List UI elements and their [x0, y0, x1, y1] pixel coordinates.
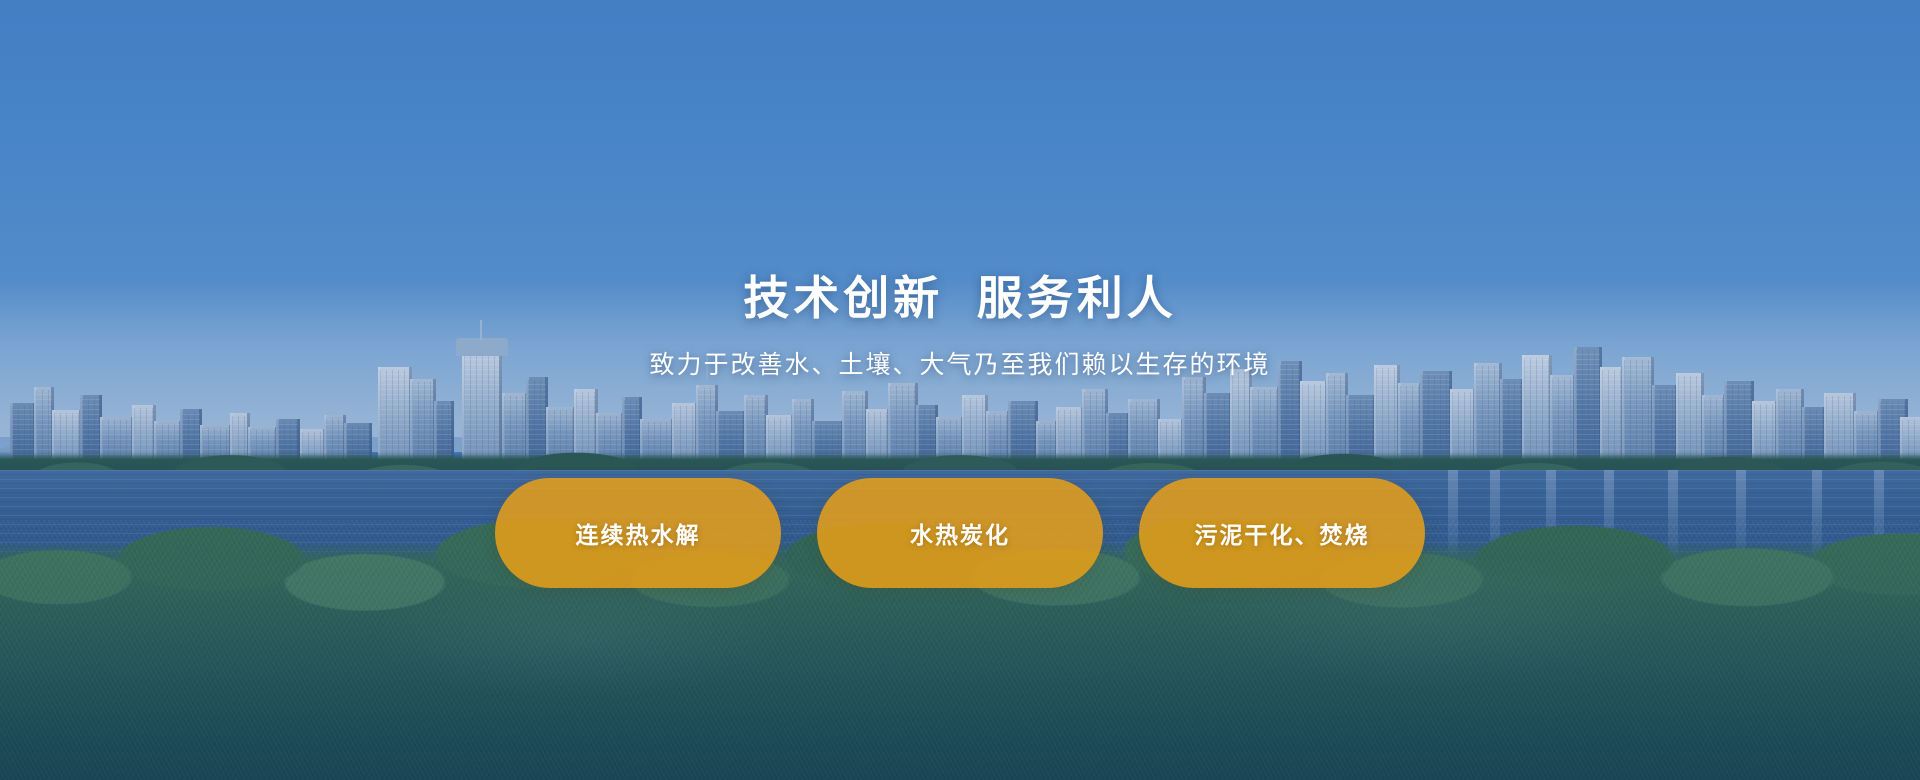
service-pill-sludge-drying-incineration[interactable]: 污泥干化、焚烧	[1139, 478, 1425, 588]
service-pill-hydrothermal-carbonization[interactable]: 水热炭化	[817, 478, 1103, 588]
hero-banner: 技术创新 服务利人 致力于改善水、土壤、大气乃至我们赖以生存的环境 连续热水解 …	[0, 0, 1920, 780]
banner-headline: 技术创新 服务利人	[0, 262, 1920, 328]
service-pill-continuous-thermal-hydrolysis[interactable]: 连续热水解	[495, 478, 781, 588]
service-pill-group: 连续热水解 水热炭化 污泥干化、焚烧	[0, 478, 1920, 588]
banner-content: 技术创新 服务利人 致力于改善水、土壤、大气乃至我们赖以生存的环境 连续热水解 …	[0, 0, 1920, 780]
banner-subline: 致力于改善水、土壤、大气乃至我们赖以生存的环境	[0, 345, 1920, 381]
